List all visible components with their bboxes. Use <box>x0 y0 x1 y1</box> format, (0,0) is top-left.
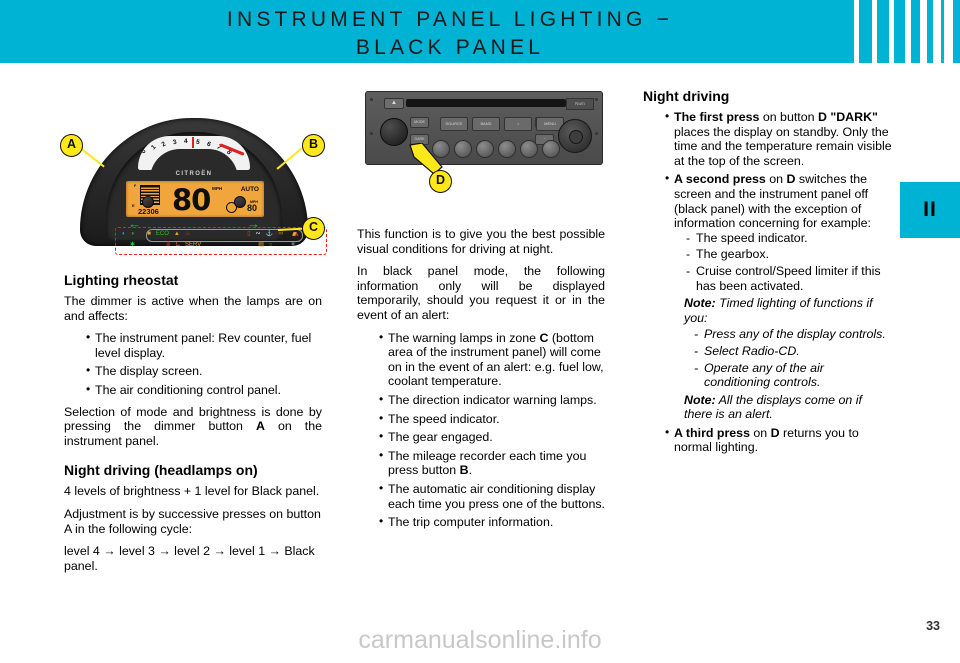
third-press-label: A third press <box>674 426 750 440</box>
oil-pressure-icon: ∾ <box>256 231 261 238</box>
fuel-low-icon: ⛺ <box>291 231 298 238</box>
page-title: INSTRUMENT PANEL LIGHTING − BLACK PANEL <box>70 6 830 62</box>
left-heading-night-driving: Night driving (headlamps on) <box>64 462 322 479</box>
left-paragraph-3: 4 levels of brightness + 1 level for Bla… <box>64 484 322 499</box>
sidelights-icon: ◑ <box>131 231 135 238</box>
cd-slot <box>406 99 566 107</box>
handbrake-icon: ▲ <box>174 231 180 238</box>
navigation-pad-center[interactable] <box>569 130 583 144</box>
note-label-2: Note: <box>684 393 716 407</box>
door-open-icon: ■ <box>147 231 151 238</box>
right-heading-night-driving: Night driving <box>643 88 893 105</box>
seatbelt-icon: ♾ <box>278 231 283 238</box>
volume-knob[interactable] <box>380 118 408 146</box>
odometer-readout: 22306 <box>138 207 159 216</box>
dark-label: "DARK" <box>830 110 878 124</box>
mode-button[interactable]: MODE <box>410 117 429 128</box>
callout-marker-c: C <box>302 217 325 240</box>
right-bullet-list: The first press on button D "DARK" place… <box>643 110 893 455</box>
band-button[interactable]: BAND <box>472 117 500 131</box>
mileage-button-b[interactable] <box>234 196 246 208</box>
left-paragraph-2: Selection of mode and brightness is done… <box>64 405 322 449</box>
radio-faceplate: ▲ Num MODE DARK + − SOURCE BAND ♪ MENU <box>365 91 603 165</box>
fuel-empty-label: E <box>132 203 135 208</box>
list-item: The gearbox. <box>686 247 893 262</box>
site-watermark: carmanualsonline.info <box>0 626 960 655</box>
cluster-housing: 0 1 2 3 4 5 6 7 8 CITROËN F E <box>80 118 308 246</box>
right-bullet-3-mid: on <box>750 426 771 440</box>
warning-lamps-row-lower: ✱ ⛢ ⛡ SERV ▤ ○ ⚛ <box>130 242 296 249</box>
right-dash-list-1: The speed indicator. The gearbox. Cruise… <box>674 231 893 293</box>
list-item: The mileage recorder each time you press… <box>379 449 605 478</box>
airbag-icon: ⛢ <box>166 242 170 249</box>
radio-small-display: Num <box>566 98 594 110</box>
list-item: A third press on D returns you to normal… <box>665 426 893 455</box>
fuel-full-label: F <box>134 184 136 188</box>
rev-counter-gauge: 0 1 2 3 4 5 6 7 8 <box>138 136 250 170</box>
music-button[interactable]: ♪ <box>504 117 532 131</box>
abs-icon: ⛡ <box>175 242 180 249</box>
speed-unit-label: MPH <box>212 186 222 191</box>
button-ref-d-1: D <box>818 110 827 124</box>
callout-marker-d: D <box>429 170 452 193</box>
right-bullet-2-mid: on <box>766 172 787 186</box>
list-item: Select Radio-CD. <box>694 344 893 359</box>
middle-bullet-mileage-text-a: The mileage recorder each time you press… <box>388 449 586 478</box>
preset-button-2[interactable] <box>454 140 472 158</box>
list-item: The first press on button D "DARK" place… <box>665 110 893 168</box>
speed-readout: 80 <box>172 183 210 217</box>
main-beam-icon: ◐ <box>122 231 126 238</box>
second-press-label: A second press <box>674 172 766 186</box>
list-item: The automatic air conditioning display e… <box>379 482 605 511</box>
left-paragraph-4: Adjustment is by successive presses on b… <box>64 507 322 536</box>
right-text-column: Night driving The first press on button … <box>643 88 893 462</box>
list-item: The speed indicator. <box>686 231 893 246</box>
middle-text-column: This function is to give you the best po… <box>357 227 605 537</box>
preset-button-6[interactable] <box>542 140 560 158</box>
list-item: The instrument panel: Rev counter, fuel … <box>86 331 322 360</box>
chapter-tab-label: II <box>923 198 937 222</box>
right-bullet-1-rest: places the display on standby. Only the … <box>674 125 892 168</box>
list-item: The air conditioning control panel. <box>86 383 322 398</box>
page-number: 33 <box>926 619 940 633</box>
cluster-face: 0 1 2 3 4 5 6 7 8 CITROËN F E <box>106 132 282 240</box>
coolant-temp-icon: ♨ <box>185 231 190 238</box>
front-fog-icon: ✱ <box>130 242 135 249</box>
list-item: Cruise control/Speed limiter if this has… <box>686 264 893 293</box>
instrument-cluster-figure: 0 1 2 3 4 5 6 7 8 CITROËN F E <box>66 112 326 257</box>
list-item: A second press on D switches the screen … <box>665 172 893 422</box>
note-label-1: Note: <box>684 296 716 310</box>
left-heading-lighting-rheostat: Lighting rheostat <box>64 272 322 289</box>
list-item: Operate any of the air conditioning cont… <box>694 361 893 390</box>
source-button[interactable]: SOURCE <box>440 117 468 131</box>
navigation-pad[interactable] <box>558 119 592 153</box>
middle-bullet-list: The warning lamps in zone C (bottom area… <box>357 331 605 530</box>
chapter-tab-marker: II <box>900 182 960 238</box>
note-all-displays: Note: All the displays come on if there … <box>674 393 893 422</box>
list-item: The display screen. <box>86 364 322 379</box>
button-ref-a: A <box>256 419 265 433</box>
recirculation-icon: ○ <box>269 242 273 249</box>
callout-marker-b: B <box>302 134 325 157</box>
right-dash-list-2: Press any of the display controls. Selec… <box>674 327 893 389</box>
brand-logo: CITROËN <box>146 171 242 177</box>
middle-paragraph-1: This function is to give you the best po… <box>357 227 605 256</box>
rev-counter-needle <box>192 137 194 148</box>
preset-button-5[interactable] <box>520 140 538 158</box>
left-text-column: Lighting rheostat The dimmer is active w… <box>64 272 322 581</box>
middle-bullet-mileage-text-b: . <box>469 463 472 477</box>
preset-button-3[interactable] <box>476 140 494 158</box>
eco-icon: ECO <box>156 231 169 238</box>
radio-cd-unit-figure: ▲ Num MODE DARK + − SOURCE BAND ♪ MENU <box>358 88 608 218</box>
battery-icon: ▯ <box>247 231 250 238</box>
preset-button-4[interactable] <box>498 140 516 158</box>
first-press-label: The first press <box>674 110 759 124</box>
diesel-preheat-icon: ⚛ <box>291 242 296 249</box>
button-ref-b: B <box>460 463 469 477</box>
auto-gearbox-label: AUTO <box>241 186 259 193</box>
left-paragraph-1: The dimmer is active when the lamps are … <box>64 294 322 323</box>
list-item: Press any of the display controls. <box>694 327 893 342</box>
list-item: The direction indicator warning lamps. <box>379 393 605 408</box>
button-ref-d-3: D <box>771 426 780 440</box>
right-bullet-1-mid: on button <box>759 110 818 124</box>
dimmer-button-a[interactable] <box>142 196 154 208</box>
warning-lamps-row-upper: ◐ ◑ ■ ECO ▲ ♨ ▯ ∾ ⚓ ♾ ⛺ <box>122 231 299 238</box>
note-timed-lighting: Note: Timed lighting of functions if you… <box>674 296 893 325</box>
list-item: The speed indicator. <box>379 412 605 427</box>
middle-bullet-1-text-a: The warning lamps in zone <box>388 331 540 345</box>
cruise-speed-readout: 80 <box>247 203 257 213</box>
callout-marker-a: A <box>60 134 83 157</box>
left-paragraph-5: level 4 → level 3 → level 2 → level 1 → … <box>64 544 322 573</box>
brake-fluid-icon: ⚓ <box>266 231 273 238</box>
left-bullet-list: The instrument panel: Rev counter, fuel … <box>64 331 322 397</box>
middle-paragraph-2: In black panel mode, the following infor… <box>357 264 605 322</box>
rear-fog-icon: ▤ <box>258 242 264 249</box>
list-item: The warning lamps in zone C (bottom area… <box>379 331 605 389</box>
list-item: The trip computer information. <box>379 515 605 530</box>
header-stripe-decoration <box>840 0 953 63</box>
service-icon: SERV <box>185 242 201 249</box>
eject-button[interactable]: ▲ <box>384 98 404 109</box>
list-item: The gear engaged. <box>379 430 605 445</box>
